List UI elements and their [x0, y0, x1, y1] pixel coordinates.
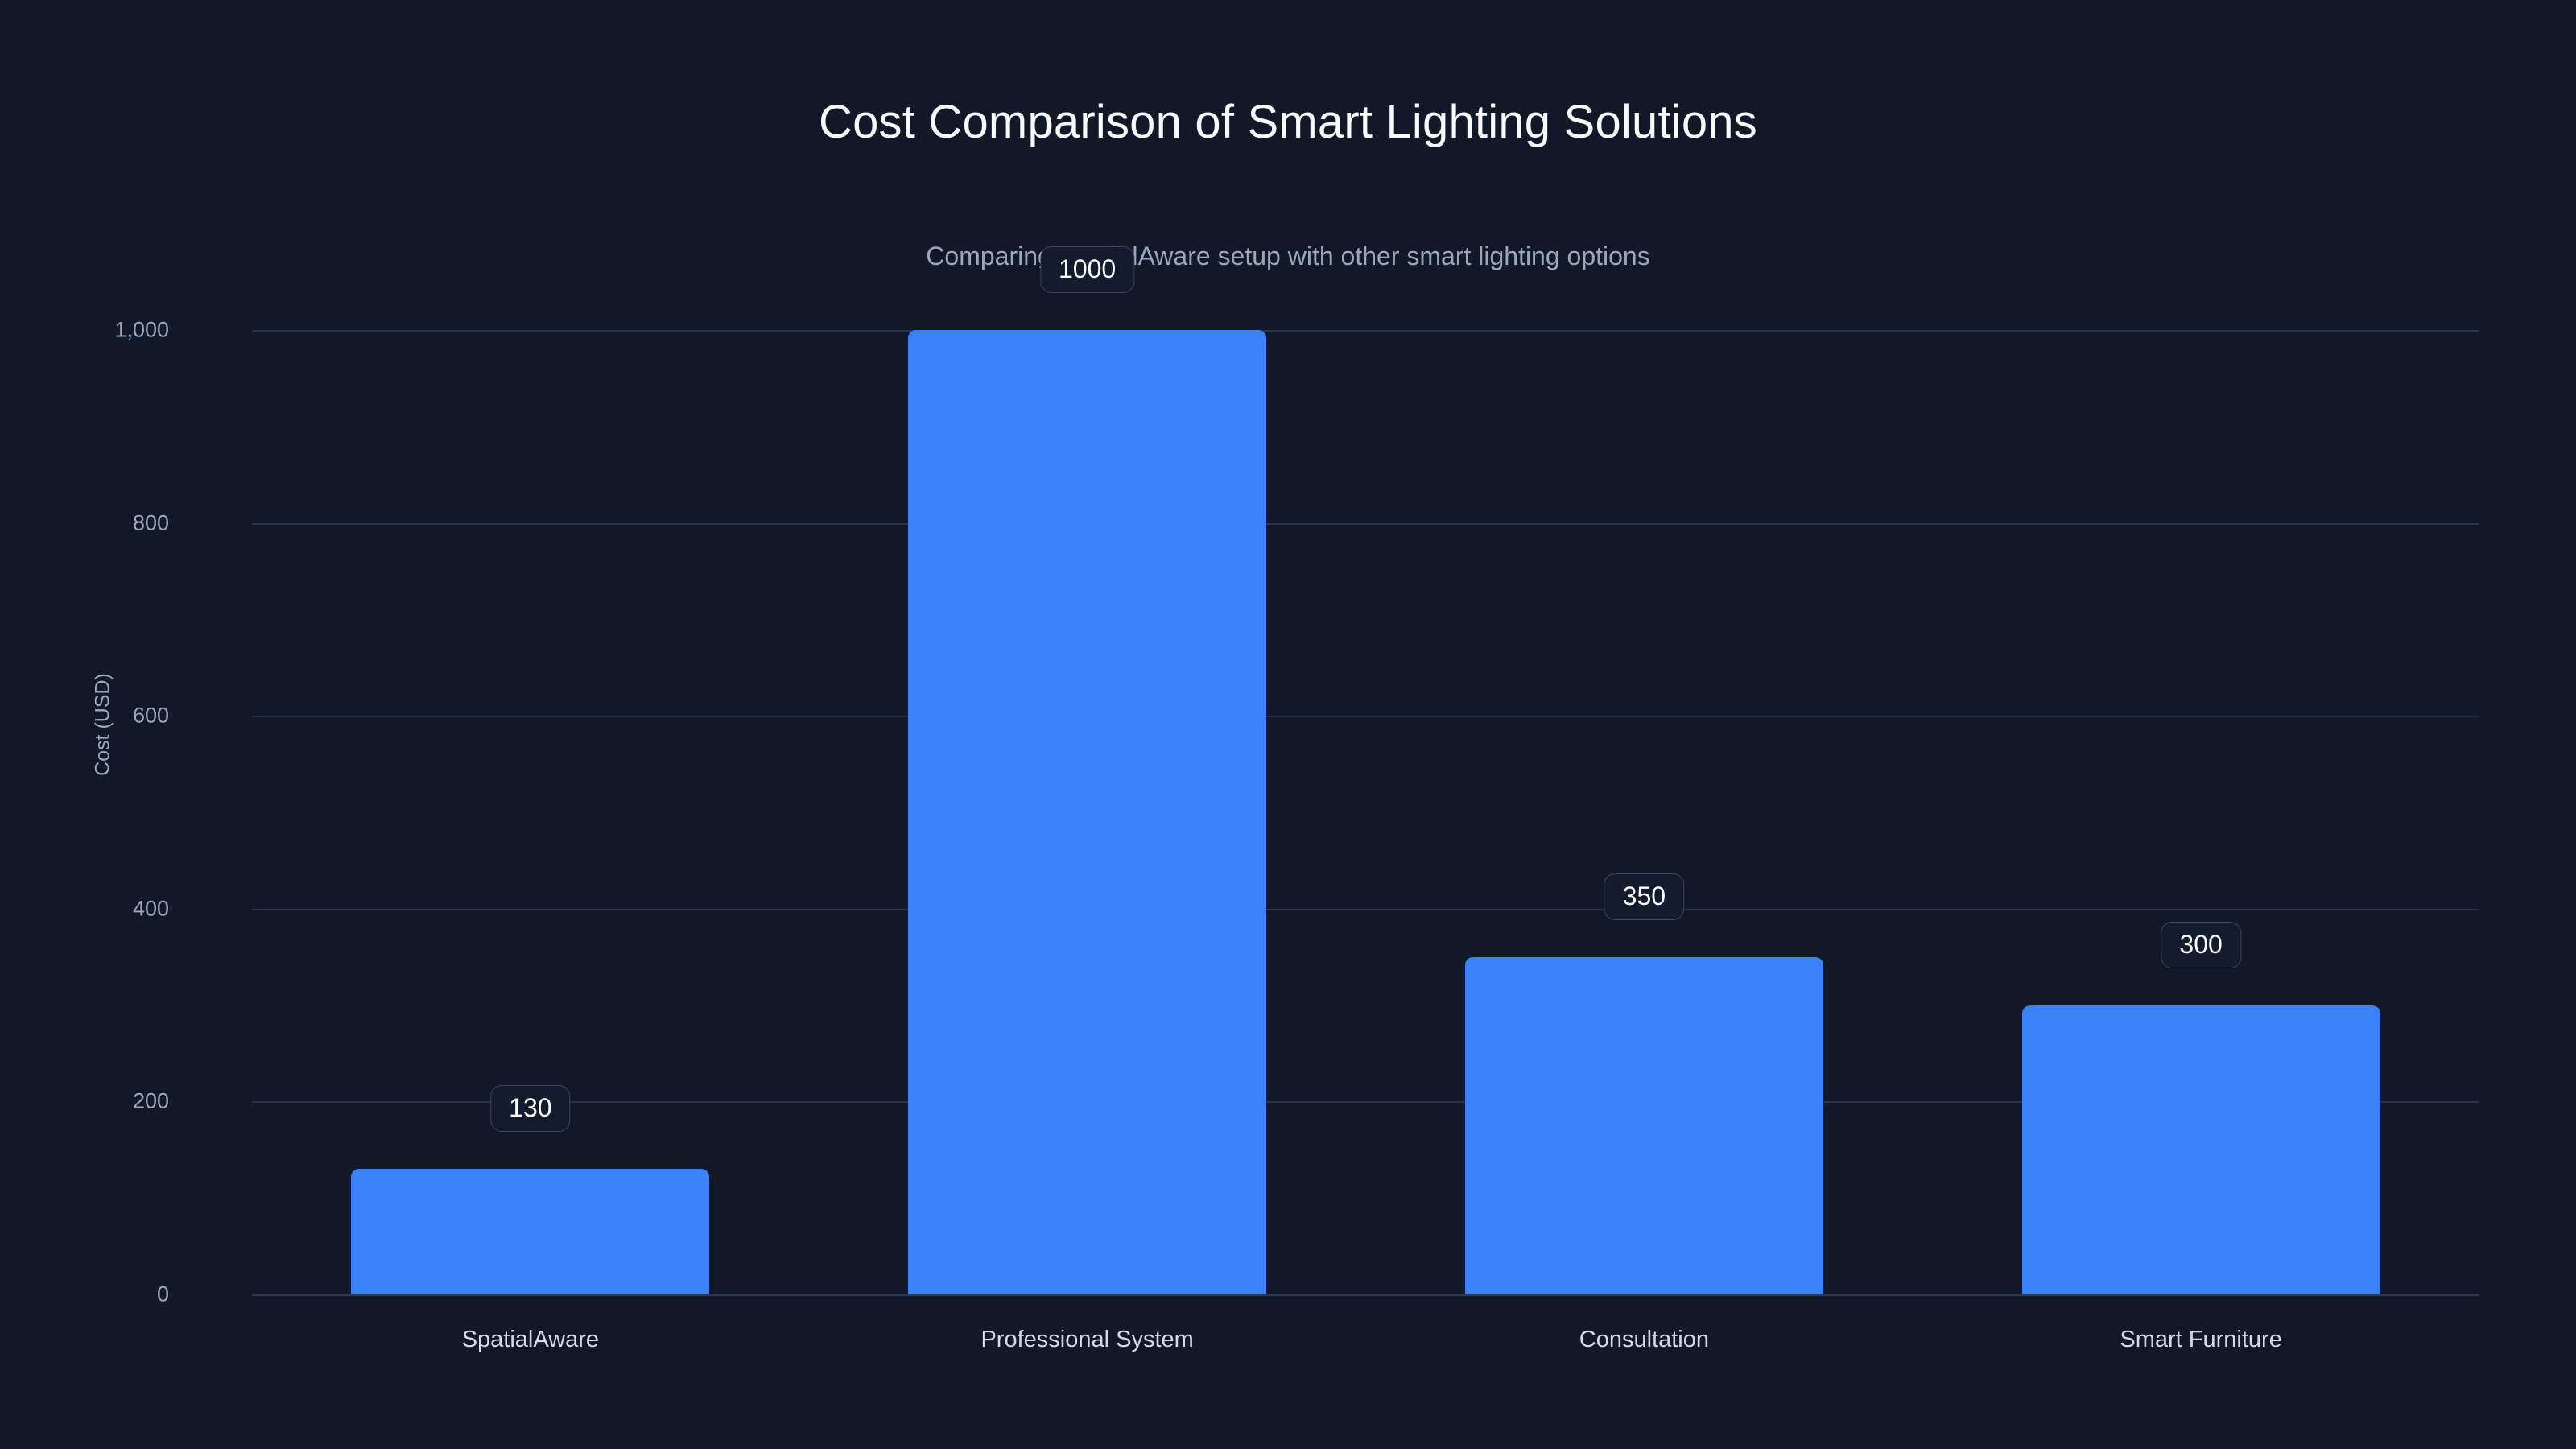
y-tick-label: 0: [32, 1282, 169, 1307]
bar[interactable]: [2022, 1005, 2380, 1294]
x-axis-line: [252, 1294, 2479, 1296]
plot-area: [252, 330, 2479, 1294]
gridline: [252, 909, 2479, 910]
x-tick-label: Professional System: [980, 1327, 1193, 1353]
chart-subtitle: Comparing SpatialAware setup with other …: [0, 242, 2576, 271]
chart-canvas: Cost Comparison of Smart Lighting Soluti…: [0, 0, 2576, 1449]
y-tick-label: 800: [32, 510, 169, 535]
y-tick-label: 1,000: [32, 318, 169, 343]
bar-value-label: 350: [1604, 873, 1684, 920]
gridline: [252, 523, 2479, 525]
x-tick-label: SpatialAware: [462, 1327, 599, 1353]
bar-value-label: 130: [490, 1085, 570, 1132]
gridline: [252, 716, 2479, 717]
x-tick-label: Consultation: [1579, 1327, 1709, 1353]
chart-title: Cost Comparison of Smart Lighting Soluti…: [0, 95, 2576, 149]
x-tick-label: Smart Furniture: [2120, 1327, 2281, 1353]
bar-value-label: 1000: [1040, 246, 1134, 293]
bar-value-label: 300: [2161, 922, 2240, 968]
bar[interactable]: [908, 330, 1266, 1294]
y-tick-label: 200: [32, 1089, 169, 1114]
bar[interactable]: [1465, 957, 1823, 1294]
y-tick-label: 400: [32, 896, 169, 921]
bar[interactable]: [351, 1169, 709, 1294]
gridline: [252, 330, 2479, 332]
y-tick-label: 600: [32, 704, 169, 729]
